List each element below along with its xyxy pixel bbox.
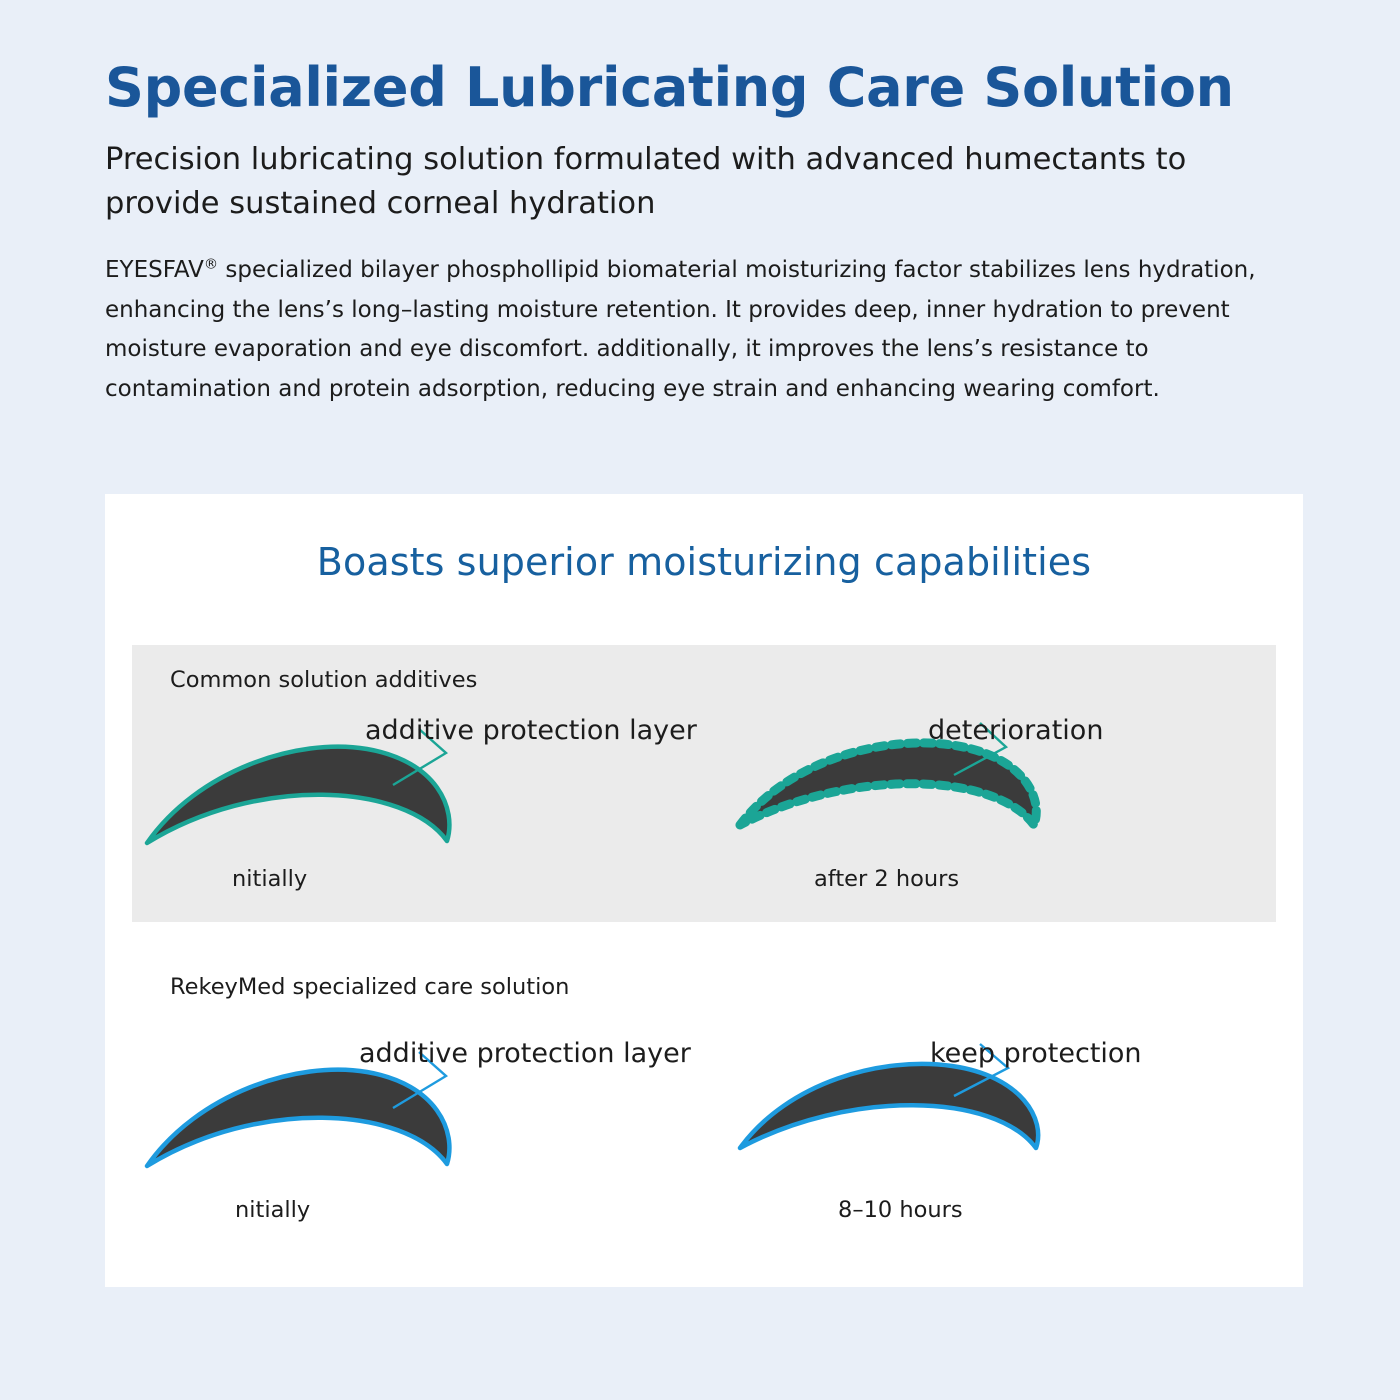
- comparison-card: Boasts superior moisturizing capabilitie…: [105, 494, 1303, 1287]
- page-subtitle: Precision lubricating solution formulate…: [105, 138, 1305, 225]
- brand-name: EYESFAV: [105, 257, 204, 283]
- section-common-solution-additives: Common solution additives additive prote…: [132, 645, 1276, 922]
- lens-callout-label: additive protection layer: [365, 717, 697, 744]
- lens-callout-label: deterioration: [928, 717, 1103, 744]
- card-title: Boasts superior moisturizing capabilitie…: [105, 540, 1303, 584]
- section-label: RekeyMed specialized care solution: [170, 974, 569, 1000]
- lens-callout-label: additive protection layer: [359, 1040, 691, 1067]
- lens-figure-common-initially: additive protection layer nitially: [137, 713, 697, 913]
- lens-caption-label: nitially: [235, 1199, 310, 1222]
- lens-figure-rekeymed-8-10-hours: keep protection 8–10 hours: [732, 1036, 1292, 1236]
- section-rekeymed-care-solution: RekeyMed specialized care solution addit…: [132, 952, 1276, 1252]
- lens-caption-label: 8–10 hours: [838, 1199, 963, 1222]
- registered-trademark-icon: ®: [204, 256, 218, 272]
- page-body-paragraph: EYESFAV® specialized bilayer phosphollip…: [105, 251, 1305, 409]
- lens-callout-label: keep protection: [930, 1040, 1142, 1067]
- body-text: specialized bilayer phosphollipid biomat…: [105, 257, 1256, 402]
- section-label: Common solution additives: [170, 667, 477, 693]
- lens-caption-label: after 2 hours: [814, 868, 959, 891]
- lens-figure-common-after-2-hours: deterioration after 2 hours: [732, 713, 1292, 913]
- lens-caption-label: nitially: [232, 868, 307, 891]
- page-title: Specialized Lubricating Care Solution: [105, 58, 1305, 118]
- lens-figure-rekeymed-initially: additive protection layer nitially: [137, 1036, 697, 1236]
- page-header: Specialized Lubricating Care Solution Pr…: [105, 58, 1305, 409]
